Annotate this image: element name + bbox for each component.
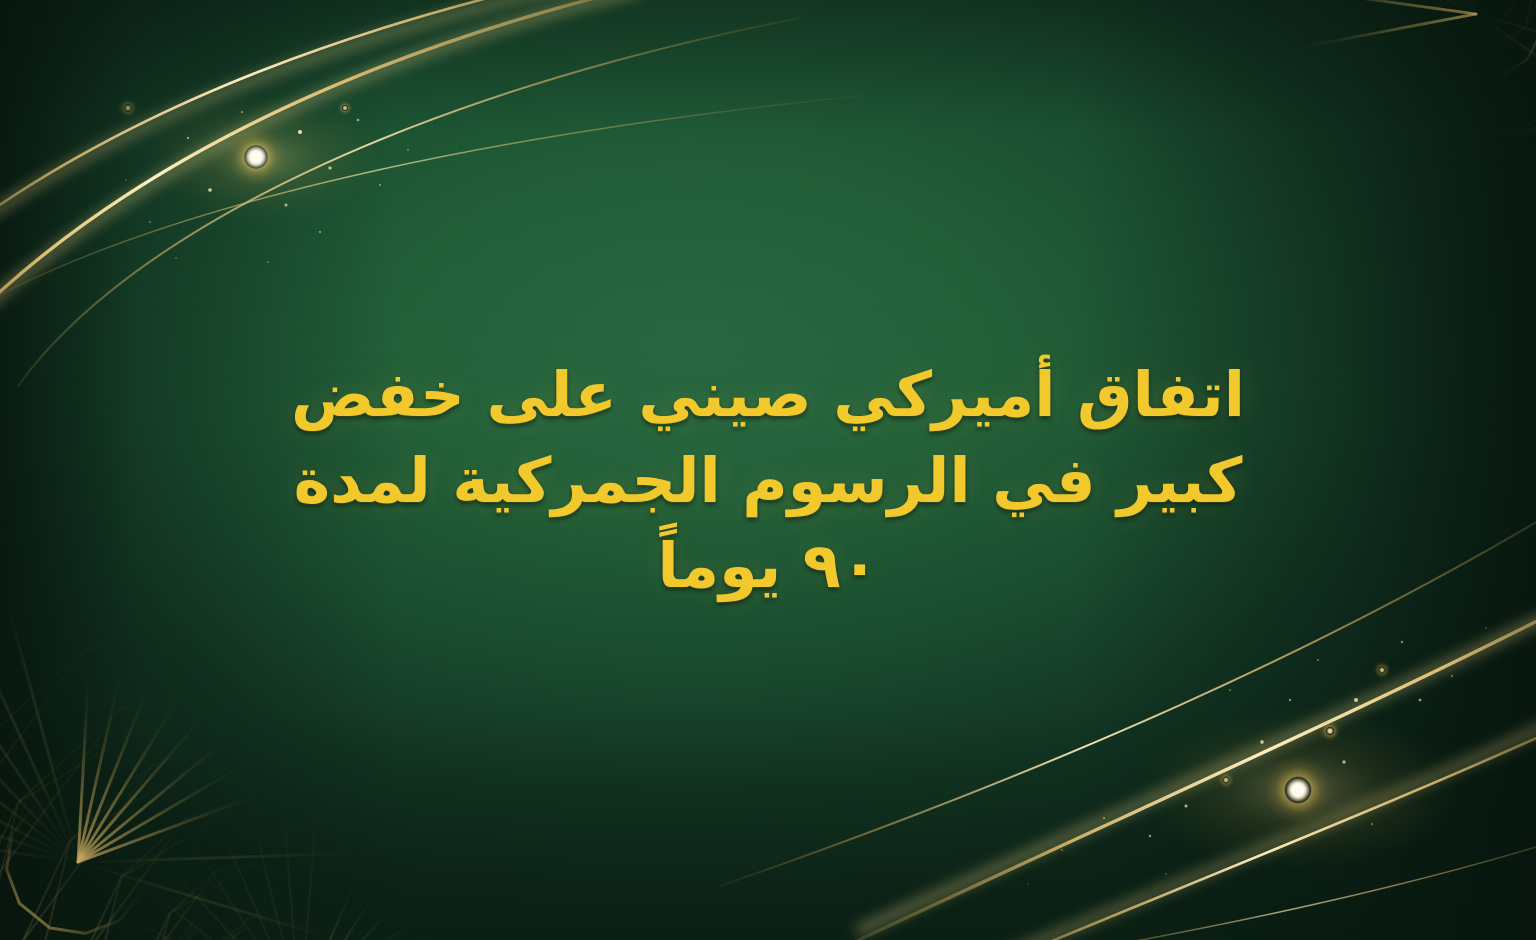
page-title: اتفاق أميركي صيني على خفض كبير في الرسوم… — [268, 352, 1268, 609]
headline-block: اتفاق أميركي صيني على خفض كبير في الرسوم… — [0, 352, 1536, 609]
headline-card: اتفاق أميركي صيني على خفض كبير في الرسوم… — [0, 0, 1536, 940]
